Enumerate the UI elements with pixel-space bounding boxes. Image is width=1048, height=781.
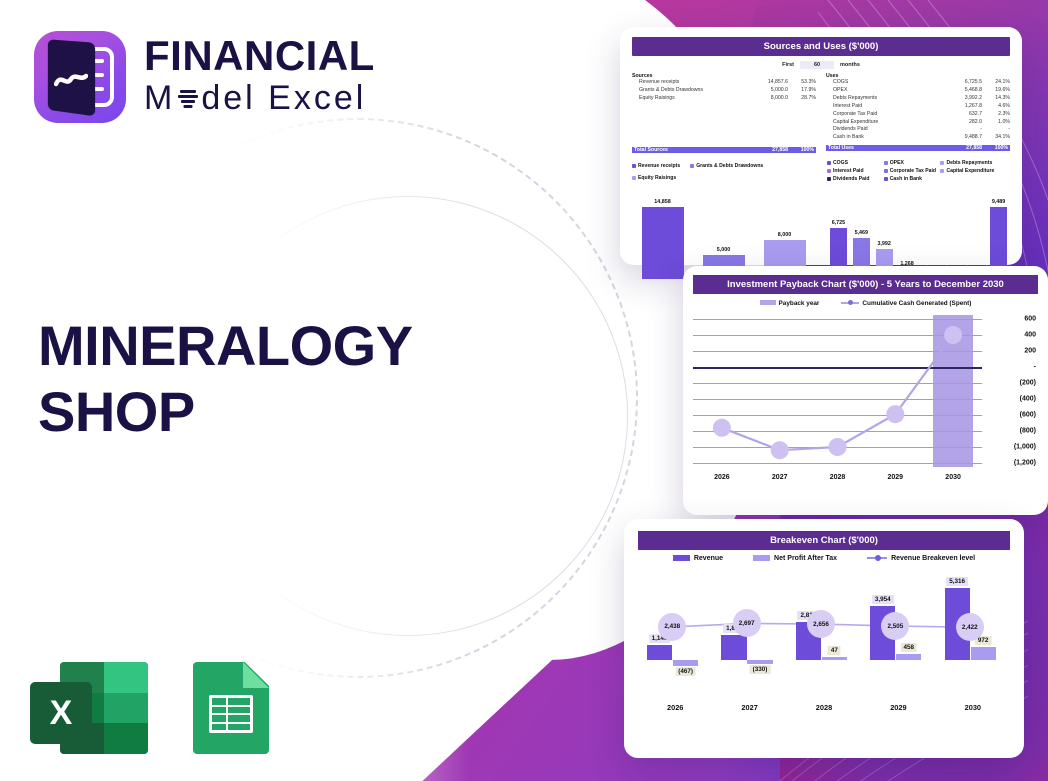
y-tick-label: (800) bbox=[1020, 428, 1036, 435]
brand-line-1: FINANCIAL bbox=[144, 35, 375, 77]
payback-legend-label-0: Payback year bbox=[779, 300, 820, 307]
sources-uses-charts: 14,858 5,000 8,000 6,725 5,469 3,992 1,2… bbox=[632, 187, 1010, 279]
legend-label: Dividends Paid bbox=[833, 176, 870, 182]
table-row: OPEX 5,468.8 19.6% bbox=[826, 87, 1010, 95]
row-name: OPEX bbox=[826, 87, 942, 95]
net-profit-bar: (330) bbox=[747, 660, 772, 664]
x-tick-label: 2029 bbox=[866, 474, 924, 481]
y-tick-label: (600) bbox=[1020, 412, 1036, 419]
table-row: Cash in Bank 9,488.7 34.1% bbox=[826, 134, 1010, 142]
row-pct: 1.0% bbox=[982, 119, 1010, 127]
row-pct: 4.6% bbox=[982, 103, 1010, 111]
table-row: Corporate Tax Paid 632.7 2.3% bbox=[826, 111, 1010, 119]
x-tick-label: 2026 bbox=[638, 703, 712, 712]
row-value: 5,468.8 bbox=[942, 87, 982, 95]
row-value: 282.0 bbox=[942, 119, 982, 127]
y-tick-label: - bbox=[1034, 364, 1036, 371]
payback-x-axis-labels: 20262027202820292030 bbox=[693, 474, 1038, 481]
breakeven-level-bubble: 2,697 bbox=[733, 609, 761, 637]
breakeven-level-bubble: 2,422 bbox=[956, 613, 984, 641]
uses-table: Uses COGS 6,725.5 24.1% OPEX 5,468.8 19.… bbox=[826, 73, 1010, 153]
breakeven-plot: 1,140 (467) 1,848 (330) 2,814 47 3,954 4… bbox=[638, 572, 1010, 694]
excel-letter-x: X bbox=[30, 682, 92, 744]
bar-value-label: 3,992 bbox=[877, 241, 891, 247]
card-investment-payback[interactable]: Investment Payback Chart ($'000) - 5 Yea… bbox=[683, 266, 1048, 515]
table-row: Interest Paid 1,267.8 4.6% bbox=[826, 103, 1010, 111]
bar-item: 5,000 bbox=[703, 187, 745, 279]
row-pct: 2.3% bbox=[982, 111, 1010, 119]
legend-item: Capital Expenditure bbox=[940, 168, 997, 174]
row-value: 1,267.8 bbox=[942, 103, 982, 111]
bar-item: 6,725 bbox=[830, 187, 847, 279]
legend-item: Equity Raisings bbox=[632, 172, 676, 184]
revenue-value-label: 5,316 bbox=[946, 577, 968, 586]
uses-total-value: 27,858 bbox=[942, 145, 982, 151]
legend-item: Corporate Tax Paid bbox=[884, 168, 941, 174]
legend-label: Grants & Debts Drawdowns bbox=[696, 163, 763, 169]
breakeven-title: Breakeven Chart ($'000) bbox=[638, 531, 1010, 550]
x-tick-label: 2027 bbox=[712, 703, 786, 712]
sources-total-value: 27,858 bbox=[748, 147, 788, 153]
y-tick-label: (1,200) bbox=[1014, 460, 1036, 467]
net-profit-bar: 458 bbox=[896, 654, 921, 660]
y-tick-label: (400) bbox=[1020, 396, 1036, 403]
row-value: 6,725.5 bbox=[942, 79, 982, 87]
payback-legend-item-1: Cumulative Cash Generated (Spent) bbox=[841, 300, 971, 307]
row-name: Interest Paid bbox=[826, 103, 942, 111]
card-breakeven[interactable]: Breakeven Chart ($'000) Revenue Net Prof… bbox=[624, 519, 1024, 758]
bar-item: 3,992 bbox=[876, 187, 893, 279]
bar-item: 1,268 bbox=[899, 187, 916, 279]
months-label: months bbox=[840, 62, 860, 68]
bar-item: 14,858 bbox=[642, 187, 684, 279]
bar-item: 282 bbox=[944, 187, 961, 279]
brand-line-2: M del Excel bbox=[144, 77, 375, 120]
row-name: Revenue receipts bbox=[632, 79, 748, 87]
bar-value-label: 14,858 bbox=[654, 199, 671, 205]
logo-o-glyph-icon bbox=[177, 85, 199, 111]
y-tick-label: (1,000) bbox=[1014, 444, 1036, 451]
uses-total-pct: 100% bbox=[982, 145, 1010, 151]
breakeven-legend: Revenue Net Profit After Tax Revenue Bre… bbox=[638, 555, 1010, 562]
uses-total-row: Total Uses 27,858 100% bbox=[826, 145, 1010, 151]
row-name: COGS bbox=[826, 79, 942, 87]
legend-label: Equity Raisings bbox=[638, 175, 676, 181]
legend-label: Revenue receipts bbox=[638, 163, 680, 169]
uses-rows: COGS 6,725.5 24.1% OPEX 5,468.8 19.6% De… bbox=[826, 79, 1010, 142]
x-tick-label: 2028 bbox=[809, 474, 867, 481]
legend-label: Corporate Tax Paid bbox=[890, 168, 936, 174]
logo-wave-icon bbox=[54, 71, 88, 89]
x-tick-label: 2026 bbox=[693, 474, 751, 481]
table-row: Dividends Paid - - bbox=[826, 126, 1010, 134]
row-pct: 34.1% bbox=[982, 134, 1010, 142]
row-value: 3,992.2 bbox=[942, 95, 982, 103]
row-name: Cash in Bank bbox=[826, 134, 942, 142]
legend-label: COGS bbox=[833, 160, 848, 166]
app-icon-row: X bbox=[30, 662, 269, 754]
table-row: Debts Repayments 3,992.2 14.3% bbox=[826, 95, 1010, 103]
uses-chart-legend: COGSOPEXDebts RepaymentsInterest PaidCor… bbox=[827, 160, 1010, 184]
legend-label: Interest Paid bbox=[833, 168, 864, 174]
row-value: - bbox=[942, 126, 982, 134]
payback-legend-item-0: Payback year bbox=[760, 300, 820, 307]
y-tick-label: (200) bbox=[1020, 380, 1036, 387]
x-tick-label: 2027 bbox=[751, 474, 809, 481]
x-tick-label: 2028 bbox=[787, 703, 861, 712]
breakeven-legend-label-2: Revenue Breakeven level bbox=[891, 555, 975, 562]
row-name: Debts Repayments bbox=[826, 95, 942, 103]
sources-table: Sources Revenue receipts 14,857.6 53.3% … bbox=[632, 73, 816, 153]
row-pct: - bbox=[982, 126, 1010, 134]
sources-total-pct: 100% bbox=[788, 147, 816, 153]
breakeven-level-bubble: 2,656 bbox=[807, 610, 835, 638]
bar-item: 8,000 bbox=[764, 187, 806, 279]
breakeven-level-bubble: 2,438 bbox=[658, 613, 686, 641]
breakeven-legend-item-0: Revenue bbox=[673, 555, 723, 562]
net-profit-bar: (467) bbox=[673, 660, 698, 666]
legend-item: OPEX bbox=[884, 160, 941, 166]
x-tick-label: 2030 bbox=[924, 474, 982, 481]
net-profit-bar: 47 bbox=[822, 657, 847, 660]
bar-value-label: 9,489 bbox=[992, 199, 1006, 205]
row-name: Capital Expenditure bbox=[826, 119, 942, 127]
logo-mark-icon bbox=[34, 31, 126, 123]
y-tick-label: 400 bbox=[1024, 332, 1036, 339]
net-profit-value-label: (467) bbox=[675, 667, 696, 676]
payback-plot: 600400200-(200)(400)(600)(800)(1,000)(1,… bbox=[693, 315, 1038, 467]
bar-item: 633 bbox=[921, 187, 938, 279]
breakeven-legend-label-1: Net Profit After Tax bbox=[774, 555, 837, 562]
sources-rows: Revenue receipts 14,857.6 53.3% Grants &… bbox=[632, 79, 816, 103]
legend-item: Grants & Debts Drawdowns bbox=[690, 160, 763, 172]
y-tick-label: 200 bbox=[1024, 348, 1036, 355]
row-pct: 53.3% bbox=[788, 79, 816, 87]
table-row: Equity Raisings 8,000.0 28.7% bbox=[632, 95, 816, 103]
x-tick-label: 2029 bbox=[861, 703, 935, 712]
breakeven-x-axis-labels: 20262027202820292030 bbox=[638, 703, 1010, 712]
bar-item: 5,469 bbox=[853, 187, 870, 279]
row-name: Equity Raisings bbox=[632, 95, 748, 103]
x-tick-label: 2030 bbox=[936, 703, 1010, 712]
table-row: Capital Expenditure 282.0 1.0% bbox=[826, 119, 1010, 127]
poster-canvas: FINANCIAL M del Excel MINERALOGY SHOP X bbox=[0, 0, 1048, 781]
bar-item: 0 bbox=[967, 187, 984, 279]
sources-total-row: Total Sources 27,858 100% bbox=[632, 147, 816, 153]
breakeven-legend-label-0: Revenue bbox=[694, 555, 723, 562]
brand-wordmark: FINANCIAL M del Excel bbox=[144, 35, 375, 120]
row-pct: 17.9% bbox=[788, 87, 816, 95]
first-label: First bbox=[782, 62, 794, 68]
sources-uses-title: Sources and Uses ($'000) bbox=[632, 37, 1010, 56]
revenue-bar: 1,140 bbox=[647, 645, 672, 660]
brand-line-2-pre: M bbox=[144, 77, 175, 120]
payback-cumulative-line bbox=[693, 315, 982, 467]
uses-bar-chart: 6,725 5,469 3,992 1,268 633 282 0 9,489 bbox=[827, 187, 1010, 279]
net-profit-value-label: 47 bbox=[828, 646, 841, 655]
first-months-input[interactable]: 60 bbox=[800, 61, 834, 69]
brand-logo: FINANCIAL M del Excel bbox=[34, 31, 375, 123]
microsoft-excel-icon: X bbox=[30, 662, 148, 754]
bar bbox=[642, 207, 684, 279]
sources-uses-tables: Sources Revenue receipts 14,857.6 53.3% … bbox=[632, 73, 1010, 153]
row-name: Dividends Paid bbox=[826, 126, 942, 134]
bar-value-label: 5,469 bbox=[855, 230, 869, 236]
table-row: Revenue receipts 14,857.6 53.3% bbox=[632, 79, 816, 87]
row-name: Corporate Tax Paid bbox=[826, 111, 942, 119]
breakeven-legend-item-2: Revenue Breakeven level bbox=[867, 555, 975, 562]
payback-y-axis-labels: 600400200-(200)(400)(600)(800)(1,000)(1,… bbox=[984, 315, 1038, 467]
google-sheets-icon bbox=[193, 662, 269, 754]
legend-label: Cash in Bank bbox=[890, 176, 922, 182]
row-value: 632.7 bbox=[942, 111, 982, 119]
row-pct: 28.7% bbox=[788, 95, 816, 103]
table-row: Grants & Debts Drawdowns 5,000.0 17.9% bbox=[632, 87, 816, 95]
legend-item: Debts Repayments bbox=[940, 160, 997, 166]
revenue-bar: 1,848 bbox=[721, 635, 746, 660]
payback-legend-label-1: Cumulative Cash Generated (Spent) bbox=[862, 300, 971, 307]
sources-bar-chart: 14,858 5,000 8,000 bbox=[632, 187, 815, 279]
payback-title: Investment Payback Chart ($'000) - 5 Yea… bbox=[693, 275, 1038, 294]
row-value: 5,000.0 bbox=[748, 87, 788, 95]
card-sources-and-uses[interactable]: Sources and Uses ($'000) First 60 months… bbox=[620, 27, 1022, 265]
row-value: 8,000.0 bbox=[748, 95, 788, 103]
bar-value-label: 5,000 bbox=[717, 247, 731, 253]
bar-value-label: 8,000 bbox=[778, 232, 792, 238]
legend-label: Capital Expenditure bbox=[946, 168, 994, 174]
page-title: MINERALOGY SHOP bbox=[38, 313, 508, 445]
row-pct: 19.6% bbox=[982, 87, 1010, 95]
bar-value-label: 6,725 bbox=[832, 220, 846, 226]
net-profit-value-label: 458 bbox=[901, 643, 918, 652]
row-pct: 24.1% bbox=[982, 79, 1010, 87]
legend-item: COGS bbox=[827, 160, 884, 166]
table-row: COGS 6,725.5 24.1% bbox=[826, 79, 1010, 87]
uses-total-label: Total Uses bbox=[826, 145, 942, 151]
sources-chart-legend: Revenue receiptsGrants & Debts Drawdowns… bbox=[632, 160, 815, 184]
legend-item: Interest Paid bbox=[827, 168, 884, 174]
row-value: 9,488.7 bbox=[942, 134, 982, 142]
row-name: Grants & Debts Drawdowns bbox=[632, 87, 748, 95]
net-profit-bar: 972 bbox=[971, 647, 996, 660]
legend-label: OPEX bbox=[890, 160, 904, 166]
payback-legend: Payback year Cumulative Cash Generated (… bbox=[693, 300, 1038, 307]
row-value: 14,857.6 bbox=[748, 79, 788, 87]
first-months-row: First 60 months bbox=[632, 61, 1010, 69]
sources-total-label: Total Sources bbox=[632, 147, 748, 153]
brand-line-2-post: del Excel bbox=[201, 77, 366, 120]
y-tick-label: 600 bbox=[1024, 316, 1036, 323]
revenue-value-label: 3,954 bbox=[872, 595, 894, 604]
bar-item: 9,489 bbox=[990, 187, 1007, 279]
row-pct: 14.3% bbox=[982, 95, 1010, 103]
breakeven-legend-item-1: Net Profit After Tax bbox=[753, 555, 837, 562]
legend-item: Revenue receipts bbox=[632, 160, 680, 172]
sheets-table-icon bbox=[209, 695, 253, 733]
net-profit-value-label: (330) bbox=[750, 665, 771, 674]
legend-label: Debts Repayments bbox=[946, 160, 992, 166]
legend-item: Dividends Paid bbox=[827, 176, 884, 182]
legend-item: Cash in Bank bbox=[884, 176, 941, 182]
